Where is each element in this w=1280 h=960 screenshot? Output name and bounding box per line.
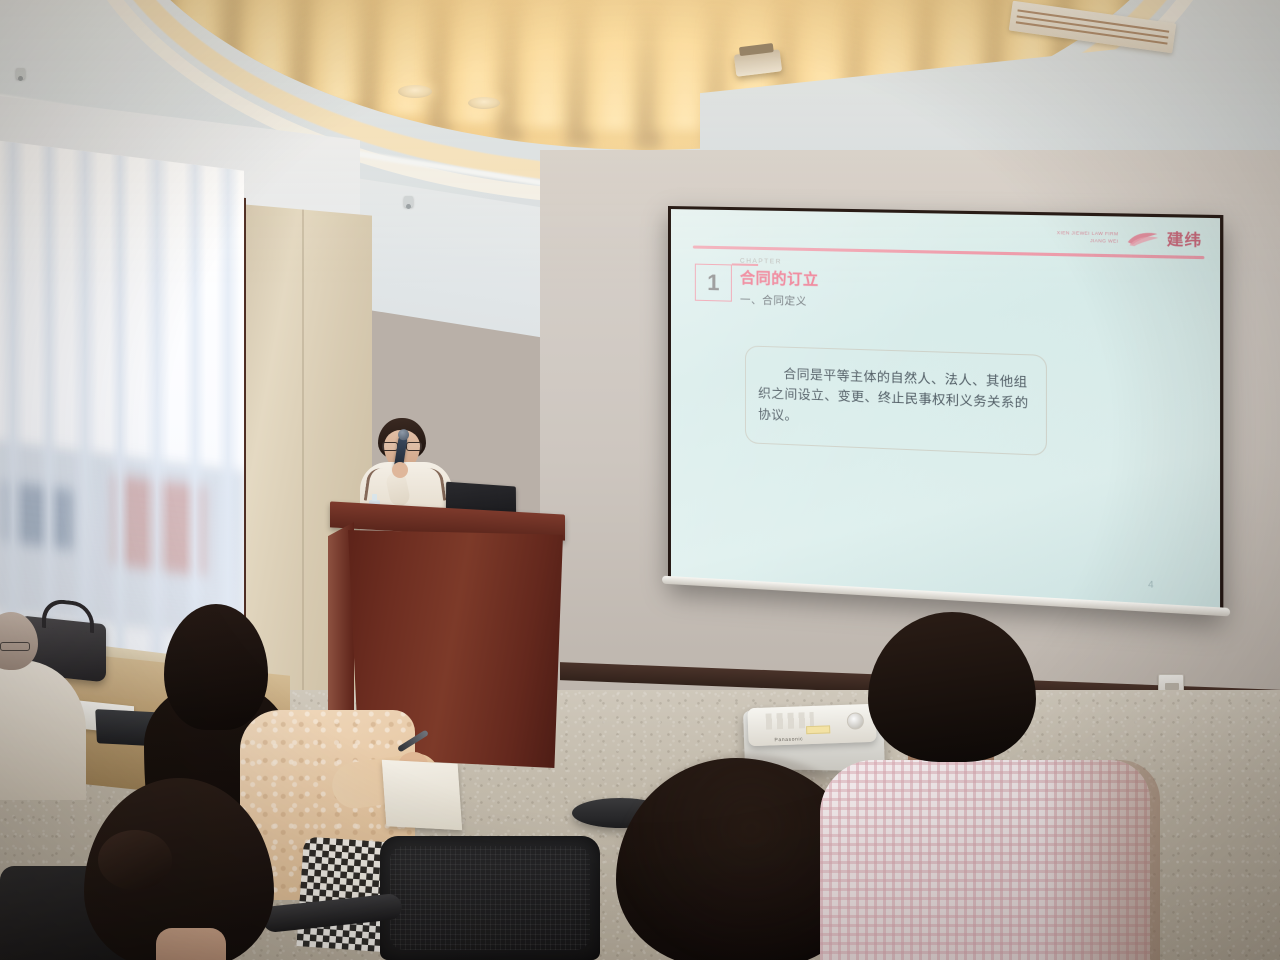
definition-box: 合同是平等主体的自然人、法人、其他组织之间设立、变更、终止民事权利义务关系的协议… <box>745 345 1047 455</box>
chapter-text-group: CHAPTER 合同的订立 一、合同定义 <box>740 258 819 310</box>
definition-text: 合同是平等主体的自然人、法人、其他组织之间设立、变更、终止民事权利义务关系的协议… <box>758 363 1033 436</box>
screen-surface: XIEN JIEWEI LAW FIRMJIANG WEI 建纬 1 CH <box>671 209 1220 613</box>
chapter-title: 合同的订立 <box>740 267 819 290</box>
projector-brand-label: Panasonic <box>774 736 803 743</box>
presentation-slide: XIEN JIEWEI LAW FIRMJIANG WEI 建纬 1 CH <box>671 209 1220 613</box>
ceiling-downlight <box>398 85 432 98</box>
audience-member-hair-bun <box>60 778 310 960</box>
logo-english-text: XIEN JIEWEI LAW FIRMJIANG WEI <box>1057 230 1119 245</box>
slide-page-number: 4 <box>1148 579 1154 590</box>
sprinkler-head <box>16 68 25 79</box>
logo-chinese-text: 建纬 <box>1167 228 1202 251</box>
office-chair-back <box>380 836 600 960</box>
projection-screen: XIEN JIEWEI LAW FIRMJIANG WEI 建纬 1 CH <box>668 206 1223 616</box>
firm-logo: XIEN JIEWEI LAW FIRMJIANG WEI 建纬 <box>1057 226 1202 251</box>
chapter-subtitle: 一、合同定义 <box>740 292 819 309</box>
checked-shirt-head <box>868 612 1036 762</box>
projector-sticker <box>806 725 830 734</box>
conference-room-photo: XIEN JIEWEI LAW FIRMJIANG WEI 建纬 1 CH <box>0 0 1280 960</box>
chapter-number-box: 1 <box>695 264 732 302</box>
sprinkler-head <box>404 196 413 207</box>
audience-left-glasses-icon <box>0 642 30 651</box>
presenter-hand <box>392 462 408 478</box>
logo-swoosh-icon <box>1126 229 1159 248</box>
audience-member-checked-shirt <box>830 612 1160 960</box>
chapter-tick-line <box>732 263 758 265</box>
chapter-block: 1 CHAPTER 合同的订立 一、合同定义 <box>695 257 819 310</box>
checked-shirt-shading <box>1040 760 1160 960</box>
hair-bun <box>98 830 172 890</box>
ceiling-downlight <box>468 97 500 109</box>
notepad <box>382 760 462 830</box>
audience-member-left <box>0 612 86 792</box>
hair-bun-neck <box>156 928 226 960</box>
